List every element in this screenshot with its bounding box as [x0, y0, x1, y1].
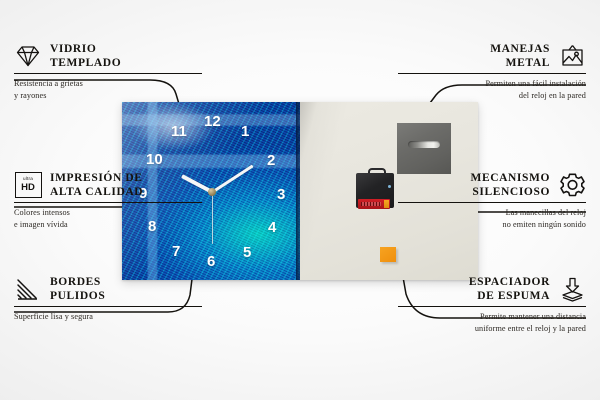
- clock-numeral-6: 6: [207, 254, 215, 269]
- feature-manejas-metal: MANEJAS METAL Permiten una fácil instala…: [398, 42, 586, 102]
- diamond-icon: [14, 42, 42, 70]
- bevel-lines-icon: [14, 275, 42, 303]
- clock-numeral-12: 12: [204, 114, 221, 129]
- feature-description: Permite mantener una distancia uniforme …: [398, 311, 586, 334]
- gear-icon: [558, 171, 586, 199]
- feature-divider: [14, 306, 202, 307]
- feature-divider: [398, 202, 586, 203]
- feature-header: MECANISMO SILENCIOSO: [398, 171, 586, 199]
- feature-espaciador-de-espuma: ESPACIADOR DE ESPUMA Permite mantener un…: [398, 275, 586, 335]
- feature-title: VIDRIO TEMPLADO: [50, 42, 121, 70]
- movement-indicator-dot: [388, 185, 391, 188]
- feature-divider: [398, 306, 586, 307]
- quartz-movement: [356, 168, 394, 208]
- foam-spacer-pad: [380, 247, 396, 262]
- foam-spacer-arrow-icon: [558, 275, 586, 303]
- feature-description: Superficie lisa y segura: [14, 311, 202, 323]
- battery-positive-tip: [384, 200, 389, 208]
- hanger-slot: [408, 141, 440, 148]
- feature-description: Resistencia a grietas y rayones: [14, 78, 202, 101]
- feature-description: Colores intensos e imagen vívida: [14, 207, 202, 230]
- clock-numeral-2: 2: [267, 153, 275, 168]
- metal-hanger-plate: [397, 123, 451, 174]
- feature-description: Permiten una fácil instalación del reloj…: [398, 78, 586, 101]
- infographic-canvas: 12 1 2 3 4 5 6 7 8 9 10 11: [0, 0, 600, 400]
- clock-numeral-1: 1: [241, 124, 249, 139]
- ultra-hd-badge-main: HD: [21, 183, 35, 193]
- feature-title: BORDES PULIDOS: [50, 275, 105, 303]
- feature-header: VIDRIO TEMPLADO: [14, 42, 202, 70]
- feature-description: Las manecillas del reloj no emiten ningú…: [398, 207, 586, 230]
- feature-title: MECANISMO SILENCIOSO: [470, 171, 550, 199]
- ultra-hd-badge: ultra HD: [15, 172, 42, 198]
- feature-header: MANEJAS METAL: [398, 42, 586, 70]
- clock-numeral-4: 4: [268, 220, 276, 235]
- clock-numeral-11: 11: [171, 124, 187, 139]
- feature-vidrio-templado: VIDRIO TEMPLADO Resistencia a grietas y …: [14, 42, 202, 102]
- movement-body: [356, 173, 394, 208]
- feature-mecanismo-silencioso: MECANISMO SILENCIOSO Las manecillas del …: [398, 171, 586, 231]
- feature-bordes-pulidos: BORDES PULIDOS Superficie lisa y segura: [14, 275, 202, 323]
- feature-header: BORDES PULIDOS: [14, 275, 202, 303]
- feature-title: IMPRESIÓN DE ALTA CALIDAD: [50, 171, 143, 199]
- feature-header: ESPACIADOR DE ESPUMA: [398, 275, 586, 303]
- feature-header: ultra HD IMPRESIÓN DE ALTA CALIDAD: [14, 171, 202, 199]
- clock-numeral-3: 3: [277, 187, 285, 202]
- framed-picture-hook-icon: [558, 42, 586, 70]
- clock-numeral-5: 5: [243, 245, 251, 260]
- clock-numeral-10: 10: [146, 152, 163, 167]
- clock-center-cap: [208, 188, 216, 196]
- feature-divider: [398, 73, 586, 74]
- feature-title: MANEJAS METAL: [490, 42, 550, 70]
- feature-impresion-alta-calidad: ultra HD IMPRESIÓN DE ALTA CALIDAD Color…: [14, 171, 202, 231]
- battery-label-stripes: [361, 202, 381, 206]
- feature-divider: [14, 73, 202, 74]
- feature-divider: [14, 202, 202, 203]
- clock-second-hand: [212, 192, 213, 244]
- ultra-hd-icon: ultra HD: [14, 171, 42, 199]
- battery: [358, 199, 390, 209]
- clock-numeral-7: 7: [172, 244, 180, 259]
- feature-title: ESPACIADOR DE ESPUMA: [469, 275, 550, 303]
